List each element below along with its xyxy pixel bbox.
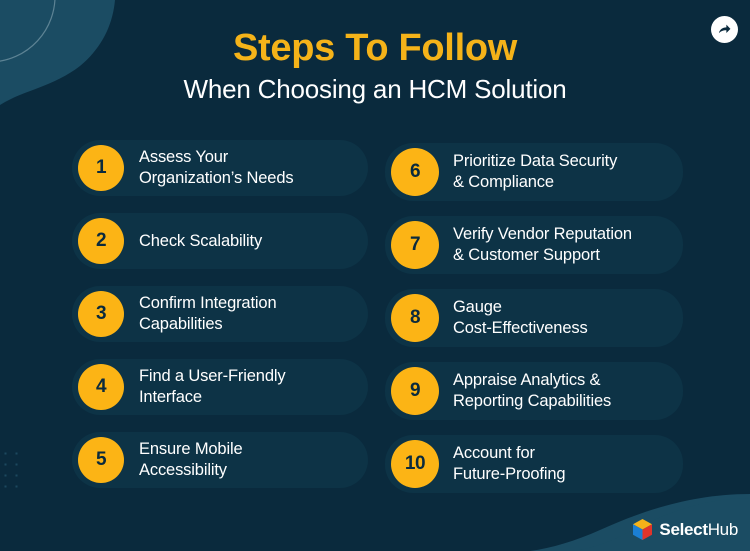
step-label: Prioritize Data Security & Compliance [453, 151, 625, 193]
infographic-canvas: Steps To Follow When Choosing an HCM Sol… [0, 0, 750, 551]
step-item-7[interactable]: 7 Verify Vendor Reputation & Customer Su… [385, 216, 683, 274]
step-label: Appraise Analytics & Reporting Capabilit… [453, 370, 619, 412]
step-number-badge: 9 [391, 367, 439, 415]
step-label: Check Scalability [139, 231, 270, 252]
step-number-badge: 3 [78, 291, 124, 337]
step-item-5[interactable]: 5 Ensure Mobile Accessibility [72, 432, 368, 488]
share-button[interactable] [711, 16, 738, 43]
step-item-3[interactable]: 3 Confirm Integration Capabilities [72, 286, 368, 342]
step-number-badge: 5 [78, 437, 124, 483]
step-label: Find a User-Friendly Interface [139, 366, 293, 408]
page-header: Steps To Follow When Choosing an HCM Sol… [0, 27, 750, 104]
step-number-badge: 8 [391, 294, 439, 342]
step-label: Assess Your Organization’s Needs [139, 147, 301, 189]
steps-grid: 1 Assess Your Organization’s Needs 2 Che… [0, 140, 750, 508]
page-subtitle: When Choosing an HCM Solution [0, 75, 750, 105]
step-number-badge: 1 [78, 145, 124, 191]
selecthub-wordmark: SelectHub [659, 521, 738, 538]
steps-column-left: 1 Assess Your Organization’s Needs 2 Che… [72, 140, 368, 508]
selecthub-cube-icon [633, 519, 652, 540]
share-arrow-icon [717, 22, 732, 37]
step-number-badge: 7 [391, 221, 439, 269]
step-item-9[interactable]: 9 Appraise Analytics & Reporting Capabil… [385, 362, 683, 420]
selecthub-logo[interactable]: SelectHub [633, 519, 738, 540]
steps-column-right: 6 Prioritize Data Security & Compliance … [385, 140, 683, 508]
step-label: Gauge Cost-Effectiveness [453, 297, 596, 339]
step-number-badge: 10 [391, 440, 439, 488]
step-item-1[interactable]: 1 Assess Your Organization’s Needs [72, 140, 368, 196]
step-label: Confirm Integration Capabilities [139, 293, 284, 335]
step-item-6[interactable]: 6 Prioritize Data Security & Compliance [385, 143, 683, 201]
step-label: Account for Future-Proofing [453, 443, 573, 485]
step-number-badge: 2 [78, 218, 124, 264]
step-item-8[interactable]: 8 Gauge Cost-Effectiveness [385, 289, 683, 347]
step-item-4[interactable]: 4 Find a User-Friendly Interface [72, 359, 368, 415]
step-label: Ensure Mobile Accessibility [139, 439, 251, 481]
page-title: Steps To Follow [0, 27, 750, 70]
step-item-2[interactable]: 2 Check Scalability [72, 213, 368, 269]
brand-bold: Select [659, 520, 707, 539]
step-label: Verify Vendor Reputation & Customer Supp… [453, 224, 640, 266]
brand-light: Hub [708, 520, 738, 539]
step-number-badge: 6 [391, 148, 439, 196]
step-number-badge: 4 [78, 364, 124, 410]
step-item-10[interactable]: 10 Account for Future-Proofing [385, 435, 683, 493]
